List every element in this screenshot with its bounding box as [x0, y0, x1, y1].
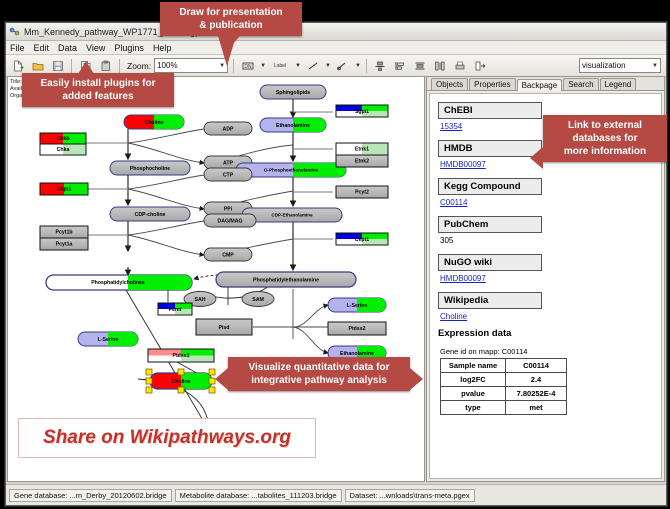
svg-text:Cept1: Cept1 — [355, 237, 370, 243]
tab-legend[interactable]: Legend — [600, 78, 637, 90]
svg-text:DAG/MAG: DAG/MAG — [217, 218, 242, 224]
chevron-down-icon[interactable]: ▼ — [260, 63, 266, 69]
svg-text:ADP: ADP — [223, 126, 234, 132]
svg-text:Choline: Choline — [171, 379, 190, 385]
zoom-label: Zoom: — [127, 61, 151, 71]
node-phosphatidylcholines[interactable]: Phosphatidylcholines — [46, 275, 192, 290]
svg-text:DN: DN — [244, 63, 252, 69]
export-icon[interactable] — [472, 57, 489, 74]
expr-key-sample-name: Sample name — [441, 359, 506, 373]
svg-text:O-Phosphoethanolamine: O-Phosphoethanolamine — [264, 168, 319, 173]
node-sam[interactable]: SAM — [242, 292, 274, 307]
tab-backpage[interactable]: Backpage — [517, 79, 563, 91]
gene-chka[interactable]: Chka — [40, 144, 86, 155]
menu-item-edit[interactable]: Edit — [34, 43, 50, 53]
svg-text:Chka: Chka — [57, 147, 70, 153]
line-tool-icon[interactable] — [304, 57, 321, 74]
anchor-tool-icon[interactable] — [334, 57, 351, 74]
new-file-icon[interactable] — [9, 57, 26, 74]
svg-text:Sgpl1: Sgpl1 — [355, 109, 369, 115]
status-dataset: Dataset: ...wnloads\trans-meta.pgex — [345, 489, 475, 502]
svg-text:Phosphatidylethanolamine: Phosphatidylethanolamine — [253, 277, 319, 283]
callout-links-text: Link to externaldatabases formore inform… — [543, 115, 667, 162]
gene-pcyt2[interactable]: Pcyt2 — [336, 186, 388, 198]
visualization-value: visualization — [582, 61, 626, 70]
callout-visualize: Visualize quantitative data forintegrati… — [228, 357, 410, 391]
db-header-kegg-compound: Kegg Compound — [438, 178, 542, 195]
svg-text:CDP-choline: CDP-choline — [135, 212, 166, 218]
db-header-hmdb: HMDB — [438, 140, 542, 157]
node-ctp[interactable]: CTP — [204, 168, 252, 181]
svg-text:Ethanolamine: Ethanolamine — [340, 351, 374, 357]
status-gene-database: Gene database: ...m_Derby_20120602.bridg… — [9, 489, 172, 502]
status-bar: Gene database: ...m_Derby_20120602.bridg… — [6, 484, 666, 505]
db-header-chebi: ChEBI — [438, 102, 542, 119]
print-icon[interactable] — [452, 57, 469, 74]
svg-text:CTP: CTP — [223, 172, 234, 178]
node-adp[interactable]: ADP — [204, 122, 252, 135]
node-choline-selected[interactable]: Choline — [146, 369, 215, 393]
node-l-serine-right[interactable]: L-Serine — [328, 298, 386, 312]
svg-text:L-Serine: L-Serine — [98, 337, 119, 343]
svg-text:Ptdss2: Ptdss2 — [348, 326, 365, 332]
node-choline-top[interactable]: Choline — [124, 115, 184, 129]
svg-text:CDP-Ethanolamine: CDP-Ethanolamine — [271, 213, 313, 218]
open-folder-icon[interactable] — [29, 57, 46, 74]
menu-bar[interactable]: File Edit Data View Plugins Help — [6, 41, 666, 55]
pathvisio-icon — [9, 26, 20, 37]
gene-etnk1[interactable]: Etnk1 — [336, 143, 388, 155]
share-banner: Share on Wikipathways.org — [18, 418, 316, 458]
align-left-icon[interactable] — [392, 57, 409, 74]
menu-item-data[interactable]: Data — [58, 43, 77, 53]
toolbar-divider — [71, 59, 72, 73]
node-phosphatidylethanolamine[interactable]: Phosphatidylethanolamine — [216, 272, 356, 287]
expr-key-type: type — [441, 401, 506, 415]
status-metabolite-database: Metabolite database: ...tabolites_111203… — [175, 489, 342, 502]
svg-text:Etnk1: Etnk1 — [355, 147, 369, 153]
svg-text:CMP: CMP — [222, 252, 234, 258]
table-row: log2FC 2.4 — [441, 373, 567, 387]
datanode-tool-icon[interactable]: DN — [239, 57, 256, 74]
callout-draw: Draw for presentation& publication — [160, 2, 302, 36]
menu-item-plugins[interactable]: Plugins — [114, 43, 144, 53]
callout-draw-text: Draw for presentation& publication — [160, 2, 302, 36]
tab-properties[interactable]: Properties — [469, 78, 515, 90]
menu-item-file[interactable]: File — [10, 43, 25, 53]
svg-text:PPi: PPi — [224, 206, 233, 212]
gene-chpt1[interactable]: Chpt1 — [40, 183, 88, 195]
svg-text:Phosphocholine: Phosphocholine — [130, 166, 170, 172]
gene-cept1[interactable]: Cept1 — [336, 233, 388, 245]
svg-text:Sphingolipids: Sphingolipids — [276, 90, 310, 96]
screenshot-root: Mm_Kennedy_pathway_WP1771_45176.gpml Fil… — [0, 0, 670, 509]
svg-text:Phosphatidylcholines: Phosphatidylcholines — [91, 280, 145, 286]
callout-links-arrow-icon — [530, 147, 543, 169]
chevron-down-icon[interactable]: ▼ — [652, 63, 658, 69]
gene-ptdss1[interactable]: Ptdss1 — [148, 349, 214, 362]
node-sphingolipids[interactable]: Sphingolipids — [260, 85, 326, 99]
node-ethanolamine-top[interactable]: Ethanolamine — [260, 118, 326, 132]
chevron-down-icon[interactable]: ▼ — [325, 63, 331, 69]
callout-visualize-arrow-right-icon — [410, 368, 423, 390]
visualization-combobox[interactable]: visualization ▼ — [579, 58, 661, 73]
share-banner-text: Share on Wikipathways.org — [43, 427, 291, 449]
zoom-value: 100% — [157, 61, 177, 70]
db-header-wikipedia: Wikipedia — [438, 292, 542, 309]
gene-pcyt1b[interactable]: Pcyt1b — [40, 226, 88, 238]
node-cdp-ethanolamine[interactable]: CDP-Ethanolamine — [242, 208, 342, 222]
callout-plugins: Easily install plugins foradded features — [22, 73, 174, 107]
expr-value-pvalue: 7.80252E-4 — [506, 387, 567, 401]
expression-table: Sample name C00114 log2FC 2.4 pvalue 7.8… — [440, 358, 567, 415]
side-panel-tabs[interactable]: Objects Properties Backpage Search Legen… — [427, 77, 664, 91]
svg-text:Pcyt1b: Pcyt1b — [55, 230, 72, 236]
svg-text:Chkb: Chkb — [57, 136, 70, 142]
callout-plugins-arrow-icon — [75, 61, 97, 79]
tab-objects[interactable]: Objects — [431, 78, 468, 90]
same-size-icon[interactable] — [432, 57, 449, 74]
db-value-pubchem: 305 — [440, 236, 661, 245]
zoom-combobox[interactable]: 100% ▼ — [154, 58, 228, 73]
svg-text:Etnk2: Etnk2 — [355, 159, 369, 165]
save-icon[interactable] — [49, 57, 66, 74]
toolbar-divider — [366, 59, 367, 73]
gene-ptdss2[interactable]: Ptdss2 — [328, 322, 386, 335]
node-l-serine-left[interactable]: L-Serine — [78, 332, 138, 346]
svg-text:SAM: SAM — [252, 297, 264, 303]
gene-sgpl1[interactable]: Sgpl1 — [336, 105, 388, 117]
expr-value-log2fc: 2.4 — [506, 373, 567, 387]
toolbar-divider — [119, 59, 120, 73]
db-link-kegg-compound[interactable]: C00114 — [440, 198, 661, 207]
svg-text:SAH: SAH — [195, 297, 206, 303]
node-phosphocholine[interactable]: Phosphocholine — [110, 161, 190, 175]
svg-text:Ptdss1: Ptdss1 — [172, 353, 189, 359]
label-tool-icon[interactable]: Label — [269, 57, 291, 74]
gene-pemt[interactable]: Pemt — [158, 303, 192, 315]
gene-id-on-mapp: Gene id on mapp: C00114 — [440, 347, 661, 356]
title-bar: Mm_Kennedy_pathway_WP1771_45176.gpml — [6, 23, 666, 41]
callout-visualize-arrow-left-icon — [215, 368, 228, 390]
svg-text:Choline: Choline — [144, 120, 163, 126]
svg-text:Ethanolamine: Ethanolamine — [276, 123, 310, 129]
node-cmp[interactable]: CMP — [204, 248, 252, 261]
svg-text:Chpt1: Chpt1 — [57, 187, 72, 193]
label-tool-text: Label — [274, 63, 286, 69]
tab-search[interactable]: Search — [563, 78, 598, 90]
db-link-nugo-wiki[interactable]: HMDB00097 — [440, 274, 661, 283]
expr-key-pvalue: pvalue — [441, 387, 506, 401]
table-row: pvalue 7.80252E-4 — [441, 387, 567, 401]
db-header-pubchem: PubChem — [438, 216, 542, 233]
svg-text:Pisd: Pisd — [219, 325, 230, 331]
callout-draw-pointer-icon — [218, 36, 236, 66]
svg-text:ATP: ATP — [223, 160, 234, 166]
paste-icon[interactable] — [97, 57, 114, 74]
db-header-nugo-wiki: NuGO wiki — [438, 254, 542, 271]
gene-chkb[interactable]: Chkb — [40, 133, 86, 144]
expression-data-heading: Expression data — [438, 328, 661, 339]
node-cdp-choline[interactable]: CDP-choline — [110, 207, 190, 221]
node-dagmag[interactable]: DAG/MAG — [204, 214, 256, 227]
svg-text:L-Serine: L-Serine — [347, 303, 368, 309]
table-row: Sample name C00114 — [441, 359, 567, 373]
svg-text:Pcyt2: Pcyt2 — [355, 190, 369, 196]
expr-value-type: met — [506, 401, 567, 415]
expr-key-log2fc: log2FC — [441, 373, 506, 387]
chevron-down-icon[interactable]: ▼ — [295, 63, 301, 69]
callout-plugins-text: Easily install plugins foradded features — [22, 73, 174, 107]
gene-pisd[interactable]: Pisd — [196, 319, 252, 335]
gene-etnk2[interactable]: Etnk2 — [336, 155, 388, 167]
node-o-phosphoethanolamine[interactable]: O-Phosphoethanolamine — [236, 163, 346, 177]
chevron-down-icon[interactable]: ▼ — [355, 63, 361, 69]
callout-links: Link to externaldatabases formore inform… — [543, 115, 667, 162]
menu-item-help[interactable]: Help — [153, 43, 172, 53]
table-row: type met — [441, 401, 567, 415]
svg-text:Pemt: Pemt — [169, 307, 182, 313]
menu-item-view[interactable]: View — [86, 43, 105, 53]
svg-text:Pcyt1a: Pcyt1a — [56, 242, 73, 248]
align-center-icon[interactable] — [372, 57, 389, 74]
distribute-vertical-icon[interactable] — [412, 57, 429, 74]
db-link-wikipedia[interactable]: Choline — [440, 312, 661, 321]
callout-visualize-text: Visualize quantitative data forintegrati… — [228, 357, 410, 391]
expr-value-sample-name: C00114 — [506, 359, 567, 373]
gene-pcyt1a[interactable]: Pcyt1a — [40, 238, 88, 250]
